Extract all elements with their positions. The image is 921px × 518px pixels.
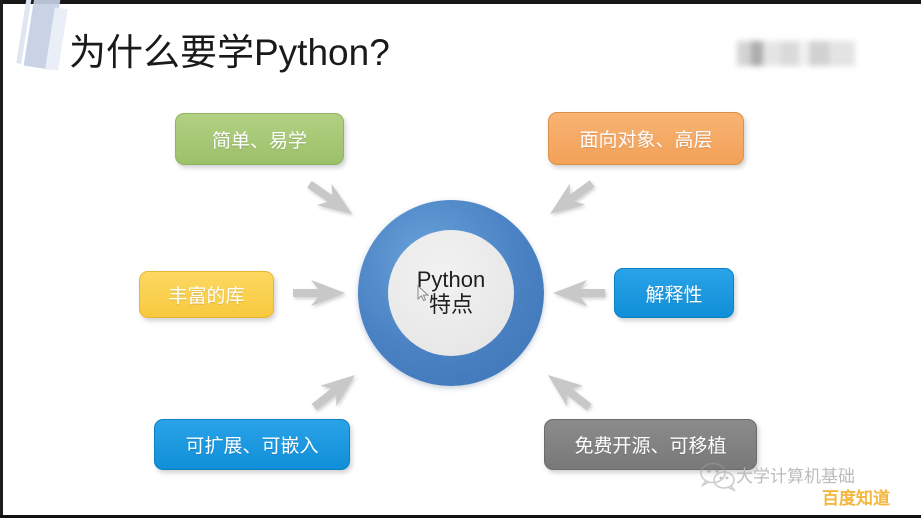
arrow-up-right — [542, 173, 599, 225]
node-oop[interactable]: 面向对象、高层 — [548, 112, 744, 165]
watermark: 大学计算机基础 百度知道 — [700, 462, 915, 512]
arrow-up-left — [302, 174, 360, 225]
arrow-down-right — [540, 365, 597, 418]
node-oop-label: 面向对象、高层 — [579, 125, 712, 152]
node-simple-label: 简单、易学 — [212, 126, 307, 153]
mouse-pointer-icon — [417, 285, 430, 302]
page-title: 为什么要学Python? — [69, 34, 390, 71]
blurred-region-icon — [737, 41, 855, 66]
python-features-circle-inner: Python 特点 — [388, 230, 514, 356]
node-library[interactable]: 丰富的库 — [139, 271, 274, 318]
node-extensible[interactable]: 可扩展、可嵌入 — [154, 419, 350, 470]
node-library-label: 丰富的库 — [168, 281, 244, 308]
arrow-down-left — [306, 365, 363, 418]
wechat-icon — [700, 462, 736, 492]
node-interpreted[interactable]: 解释性 — [614, 268, 734, 318]
watermark-brand: 百度知道 — [822, 484, 890, 509]
arrow-left — [293, 280, 345, 306]
slide-canvas: 为什么要学Python? — [0, 0, 921, 518]
node-simple[interactable]: 简单、易学 — [175, 113, 344, 165]
top-edge-bar — [0, 0, 921, 4]
node-extensible-label: 可扩展、可嵌入 — [185, 431, 318, 458]
python-features-circle[interactable]: Python 特点 — [358, 200, 544, 386]
arrow-right — [553, 280, 605, 306]
center-label-secondary: 特点 — [429, 292, 473, 318]
node-opensource-label: 免费开源、可移植 — [574, 431, 726, 458]
left-edge-bar — [0, 0, 3, 518]
node-interpreted-label: 解释性 — [645, 280, 702, 307]
